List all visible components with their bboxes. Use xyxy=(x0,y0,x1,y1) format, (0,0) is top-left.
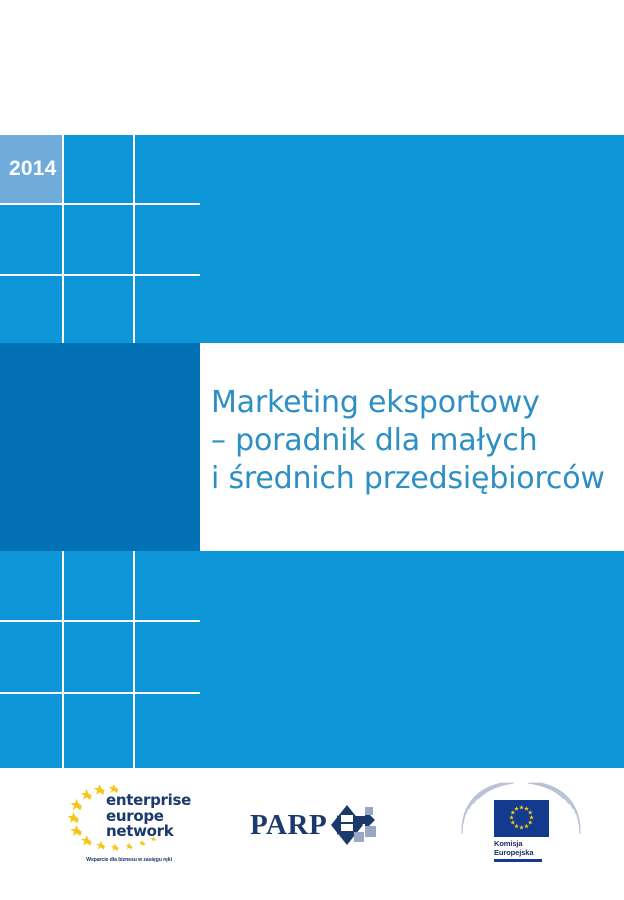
parp-wordmark: PARP xyxy=(250,809,327,842)
grid-cell xyxy=(0,694,62,770)
logo-strip: enterprise europe network Wsparcie dla b… xyxy=(0,768,624,900)
grid-cell xyxy=(135,135,204,203)
grid-cell xyxy=(64,135,133,203)
parp-diamond-arrows-icon xyxy=(328,802,378,848)
eu-stars-icon xyxy=(494,800,549,837)
ec-caption: Komisja Europejska xyxy=(494,840,533,857)
european-commission-logo: Komisja Europejska xyxy=(460,782,582,872)
grid-cell xyxy=(135,694,204,770)
grid-cell xyxy=(135,551,204,620)
year-label: 2014 xyxy=(9,157,57,181)
een-wordmark: enterprise europe network xyxy=(106,793,191,840)
dark-blue-panel xyxy=(0,343,200,551)
grid-cell xyxy=(0,622,62,692)
grid-cell xyxy=(64,205,133,274)
grid-cell xyxy=(135,622,204,692)
grid-cell xyxy=(135,276,204,345)
decorative-grid-bottom xyxy=(0,551,200,768)
grid-cell xyxy=(135,205,204,274)
een-tagline: Wsparcie dla biznesu w zasięgu ręki xyxy=(73,857,185,863)
parp-logo: PARP xyxy=(250,802,380,848)
ec-rule xyxy=(494,859,542,862)
grid-cell xyxy=(64,622,133,692)
eu-flag-icon xyxy=(494,800,549,837)
enterprise-europe-network-logo: enterprise europe network Wsparcie dla b… xyxy=(58,785,184,870)
grid-cell xyxy=(64,276,133,345)
grid-cell xyxy=(0,205,62,274)
grid-cell xyxy=(0,276,62,345)
year-badge-cell: 2014 xyxy=(0,135,62,203)
cover-title: Marketing eksportowy – poradnik dla mały… xyxy=(211,384,605,498)
grid-cell xyxy=(64,551,133,620)
title-panel: Marketing eksportowy – poradnik dla mały… xyxy=(200,343,624,551)
decorative-grid-top: 2014 xyxy=(0,135,200,343)
grid-cell xyxy=(64,694,133,770)
grid-cell xyxy=(0,551,62,620)
